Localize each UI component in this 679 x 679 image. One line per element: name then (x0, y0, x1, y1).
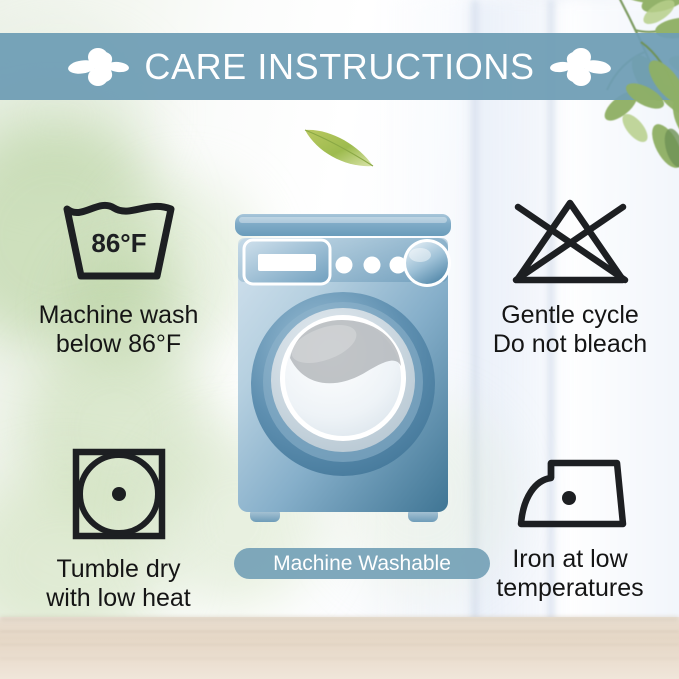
care-instructions-graphic: CARE INSTRUCTIONS (0, 0, 679, 679)
wooden-table-surface (0, 617, 679, 679)
indicator-lights (336, 257, 407, 274)
tumble-dry-low-icon (70, 446, 168, 547)
page-title: CARE INSTRUCTIONS (144, 49, 534, 85)
green-leaf-icon (300, 118, 380, 176)
care-symbol-caption: Tumble dry with low heat (46, 555, 191, 613)
care-symbol-machine-wash: 86°F Machine wash below 86°F (16, 196, 221, 359)
fleur-de-lis-left-icon (68, 45, 130, 89)
care-symbol-caption: Iron at low temperatures (496, 545, 643, 603)
care-symbol-do-not-bleach: Gentle cycle Do not bleach (470, 196, 670, 359)
care-symbol-iron-low: Iron at low temperatures (470, 446, 670, 603)
machine-washable-badge: Machine Washable (234, 548, 490, 579)
washing-machine-door (251, 292, 435, 476)
wash-tub-icon: 86°F (60, 196, 178, 293)
wash-temperature-value: 86°F (91, 228, 146, 258)
badge-label: Machine Washable (273, 553, 451, 574)
care-symbol-caption: Gentle cycle Do not bleach (493, 301, 647, 359)
control-knob (403, 239, 451, 287)
plant-branch-overlay-icon (517, 0, 679, 178)
detergent-drawer (244, 240, 330, 284)
care-symbol-caption: Machine wash below 86°F (39, 301, 199, 359)
care-symbol-tumble-dry: Tumble dry with low heat (16, 446, 221, 613)
iron-low-icon (509, 446, 631, 537)
triangle-crossed-icon (505, 196, 635, 293)
washing-machine-illustration (232, 212, 454, 532)
